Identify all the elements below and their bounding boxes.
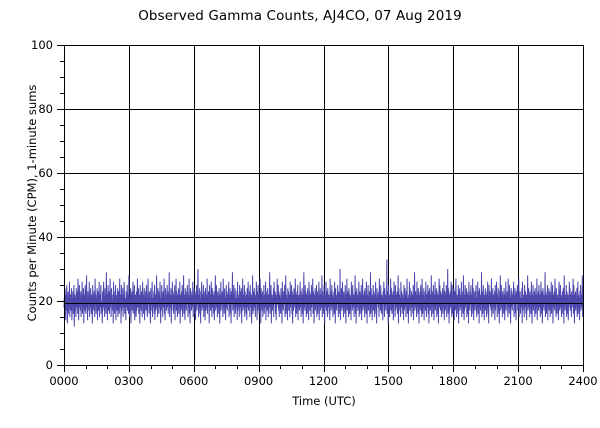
y-tick-label: 80: [38, 102, 53, 116]
gamma-counts-chart-figure: Observed Gamma Counts, AJ4CO, 07 Aug 201…: [0, 0, 600, 428]
y-tick-label: 60: [38, 166, 53, 180]
x-tick-label: 0300: [114, 374, 143, 388]
axis-ticks: [57, 46, 584, 373]
x-tick-label: 1200: [309, 374, 338, 388]
y-tick-label: 20: [38, 294, 53, 308]
gamma-counts-trace: [64, 259, 583, 326]
y-tick-label: 100: [31, 38, 53, 52]
x-tick-label: 0600: [179, 374, 208, 388]
y-tick-label: 40: [38, 230, 53, 244]
x-tick-label: 1500: [374, 374, 403, 388]
x-tick-label: 2100: [503, 374, 532, 388]
x-tick-label: 0900: [244, 374, 273, 388]
plot-canvas: 0000030006000900120015001800210024000204…: [0, 0, 600, 428]
axis-tick-labels: 0000030006000900120015001800210024000204…: [31, 38, 598, 388]
x-tick-label: 0000: [49, 374, 78, 388]
x-tick-label: 1800: [439, 374, 468, 388]
data-series-gamma-counts: [64, 259, 583, 326]
x-tick-label: 2400: [568, 374, 597, 388]
y-tick-label: 0: [46, 358, 53, 372]
